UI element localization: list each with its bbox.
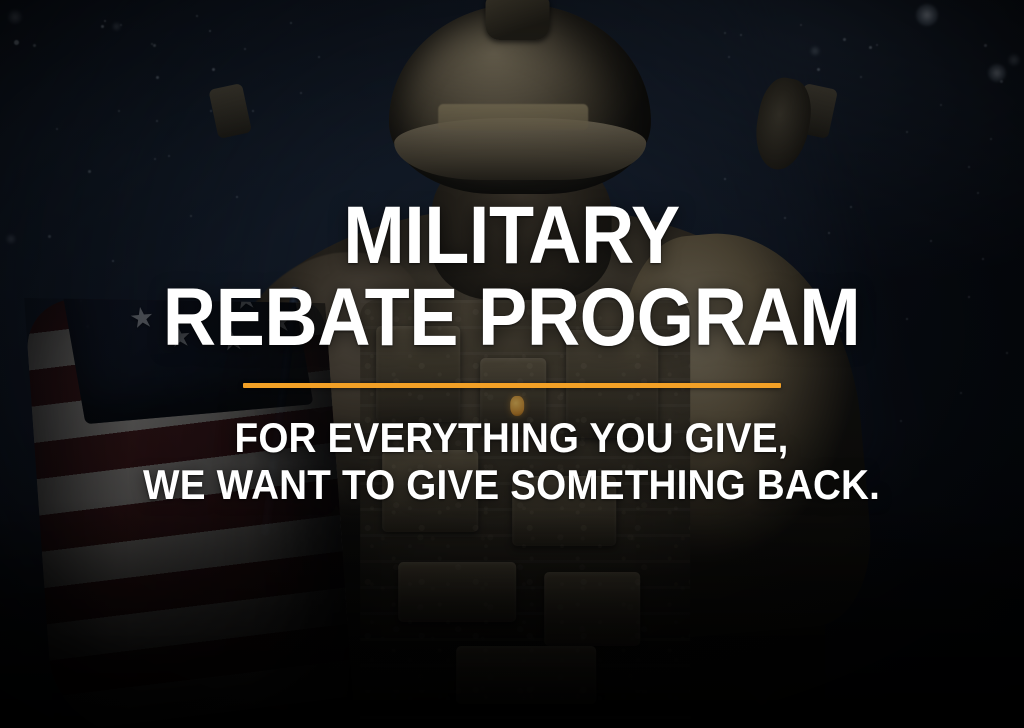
star	[156, 76, 159, 79]
star	[869, 46, 872, 49]
star	[88, 170, 91, 173]
star	[156, 120, 158, 122]
star	[968, 296, 970, 298]
star	[982, 258, 984, 260]
star	[168, 155, 170, 157]
star	[14, 40, 19, 45]
bokeh-light	[988, 64, 1006, 82]
star	[960, 392, 962, 394]
star	[906, 131, 908, 133]
american-flag: ★★★★★★★	[24, 298, 356, 728]
star	[930, 240, 932, 242]
helmet-velcro-panel	[438, 104, 588, 130]
helmet-rail-left	[208, 83, 252, 139]
bokeh-light	[916, 4, 938, 26]
star	[104, 20, 106, 22]
bokeh-light	[112, 22, 121, 31]
bokeh-light	[6, 234, 16, 244]
star	[984, 44, 987, 47]
night-vision-mount-icon	[486, 0, 550, 40]
star	[860, 76, 862, 78]
star	[112, 260, 114, 262]
star	[153, 44, 156, 47]
star	[876, 44, 878, 46]
comms-headset-icon	[750, 74, 817, 174]
bokeh-light	[8, 10, 22, 24]
star	[33, 44, 36, 47]
star	[968, 166, 970, 168]
star	[154, 158, 156, 160]
plate-carrier-vest	[360, 300, 690, 728]
bokeh-light	[1008, 54, 1020, 66]
star	[190, 215, 192, 217]
camo-pattern-overlay	[360, 300, 690, 728]
star	[118, 110, 120, 112]
military-rebate-banner: ★★★★★★★ MILITARY REBATE PROGRAM FOR EVER…	[0, 0, 1024, 728]
star	[48, 235, 51, 238]
star	[940, 104, 942, 106]
star	[1006, 352, 1008, 354]
star	[900, 420, 902, 422]
star	[101, 25, 104, 28]
star	[977, 192, 979, 194]
star	[151, 43, 153, 45]
star	[990, 138, 992, 140]
star	[56, 128, 58, 130]
star	[906, 318, 908, 320]
flag-shading	[24, 298, 356, 728]
